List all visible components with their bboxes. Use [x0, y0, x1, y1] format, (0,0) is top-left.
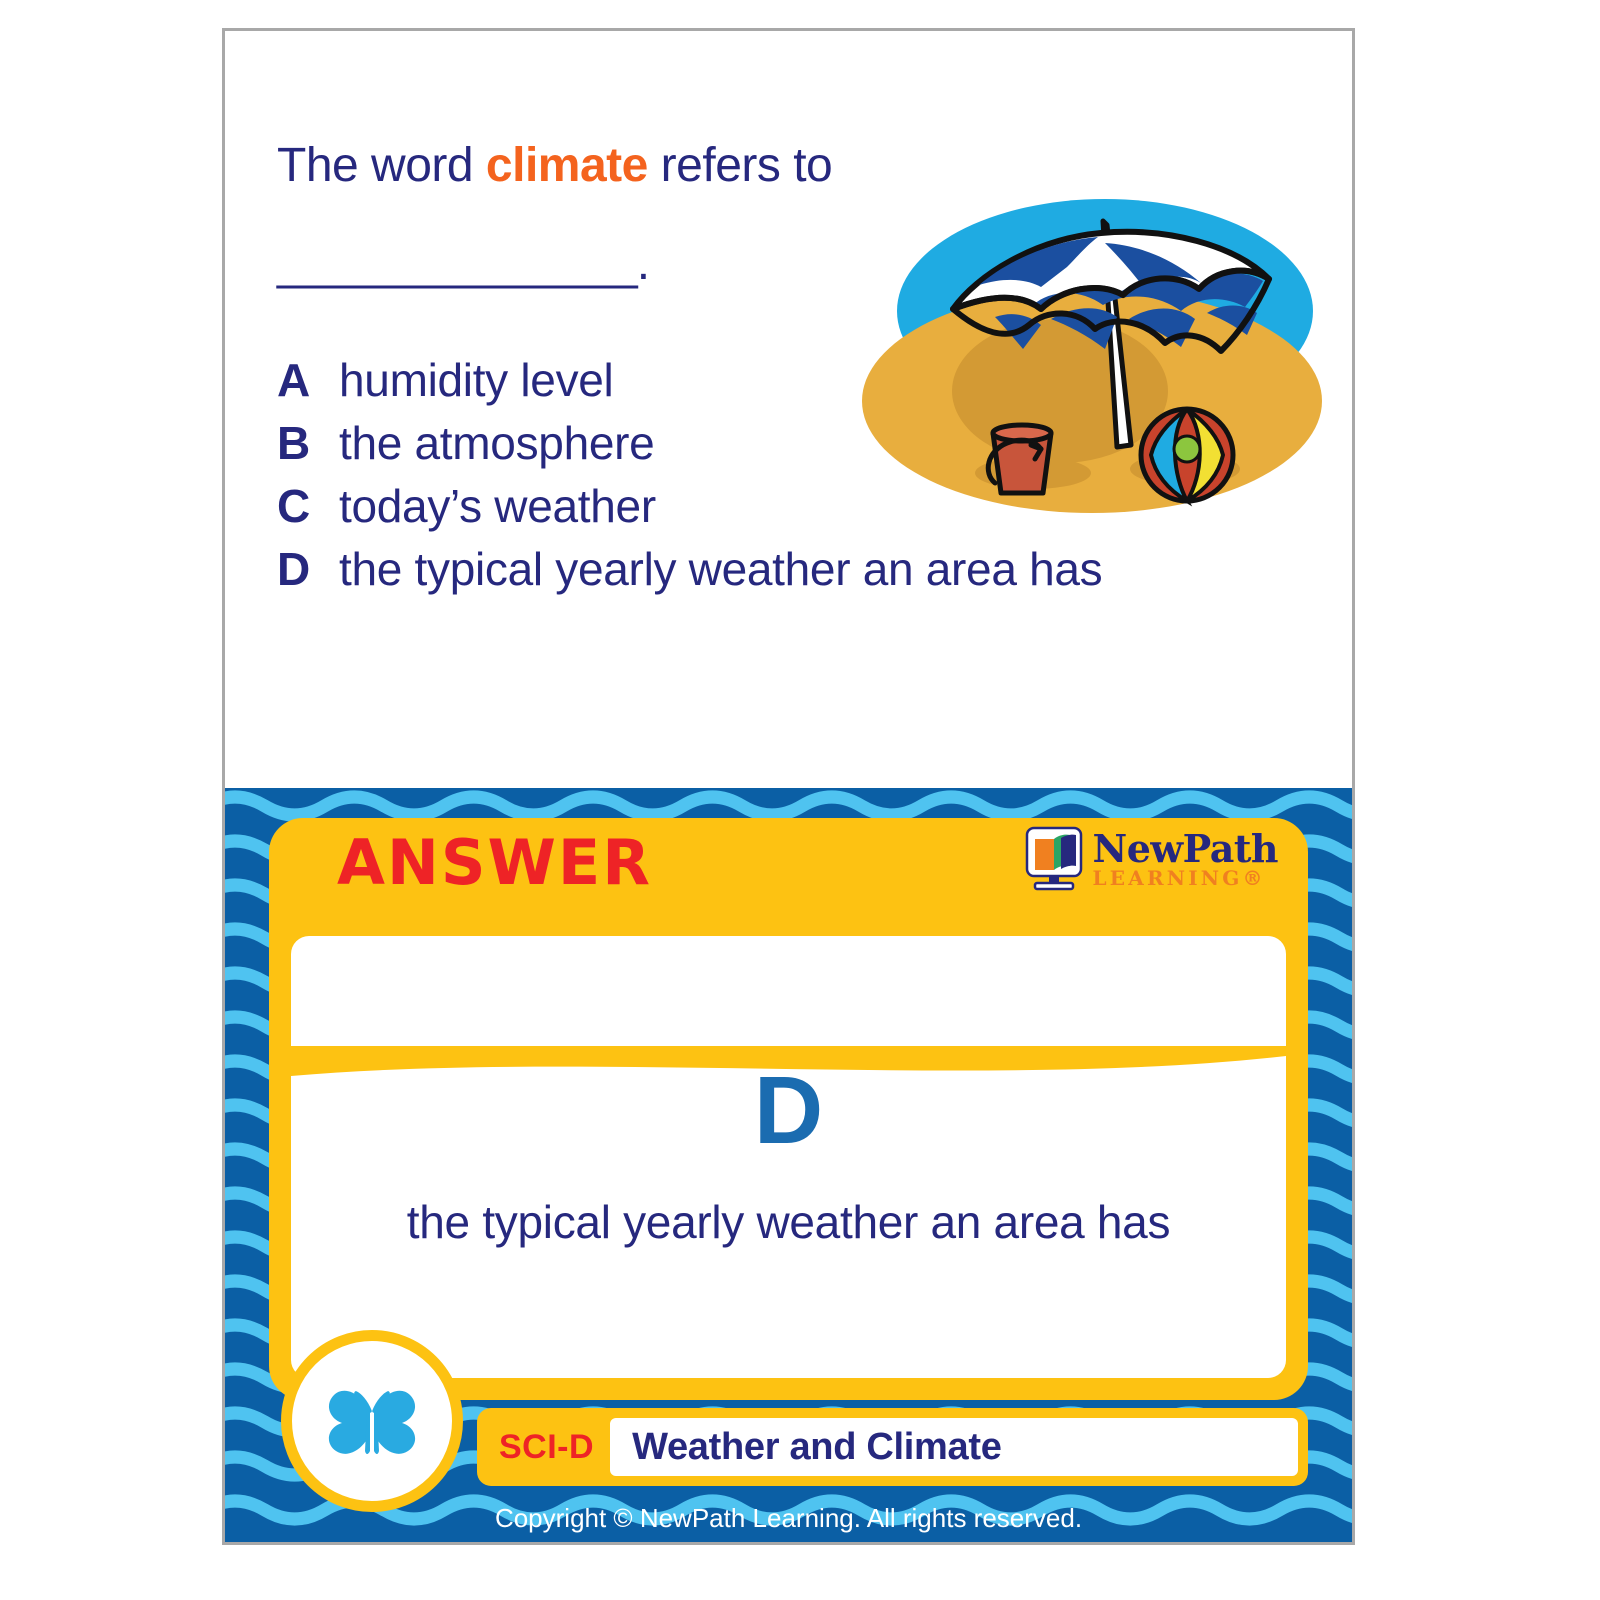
option-a-text: humidity level	[339, 351, 613, 410]
question-stem-suffix: refers to	[648, 139, 832, 192]
option-c-letter: C	[277, 477, 339, 536]
answer-text: the typical yearly weather an area has	[371, 1194, 1207, 1252]
beach-umbrella-illustration	[855, 183, 1330, 523]
option-c-text: today’s weather	[339, 477, 656, 536]
open-book-logo-icon	[1023, 826, 1085, 892]
butterfly-icon	[318, 1367, 426, 1475]
answer-title: ANSWER	[337, 826, 652, 899]
answer-header: ANSWER NewPath LEARNING®	[269, 818, 1308, 936]
subject-bar: SCI-D Weather and Climate	[477, 1408, 1308, 1486]
answer-letter: D	[291, 1056, 1286, 1166]
answer-frame: ANSWER NewPath LEARNING®	[269, 818, 1308, 1400]
flashcard: The word climate refers to _____________…	[222, 28, 1355, 1545]
question-blank: ______________.	[277, 236, 649, 291]
answer-panel: ANSWER NewPath LEARNING®	[225, 788, 1352, 1545]
subject-name-box: Weather and Climate	[610, 1418, 1298, 1476]
question-panel: The word climate refers to _____________…	[225, 31, 1352, 788]
logo-name-secondary: LEARNING®	[1093, 868, 1278, 888]
butterfly-badge	[281, 1330, 463, 1512]
option-a-letter: A	[277, 351, 339, 410]
option-d-letter: D	[277, 540, 339, 599]
logo-wordmark: NewPath LEARNING®	[1093, 830, 1278, 888]
subject-code: SCI-D	[477, 1428, 610, 1467]
option-d-text: the typical yearly weather an area has	[339, 540, 1102, 599]
option-d[interactable]: D the typical yearly weather an area has	[277, 540, 1127, 599]
subject-name: Weather and Climate	[610, 1426, 1001, 1469]
question-keyword: climate	[486, 139, 648, 192]
logo-name-primary: NewPath	[1093, 830, 1278, 868]
question-stem-prefix: The word	[277, 139, 486, 192]
newpath-logo: NewPath LEARNING®	[1023, 826, 1278, 892]
option-b-text: the atmosphere	[339, 414, 654, 473]
option-b-letter: B	[277, 414, 339, 473]
answer-content-box: D the typical yearly weather an area has	[291, 936, 1286, 1378]
